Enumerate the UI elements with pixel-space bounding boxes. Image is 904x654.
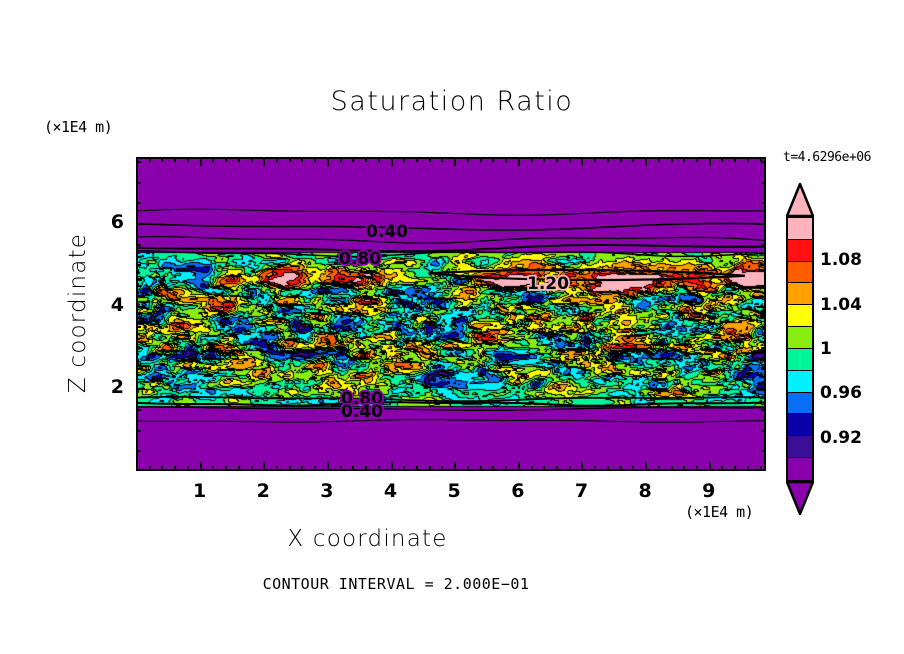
x-tick-top (441, 157, 443, 162)
x-tick-bottom (531, 466, 533, 471)
x-tick-top (187, 157, 189, 162)
x-tick-top (263, 157, 265, 166)
x-tick-label-7: 7 (566, 480, 596, 502)
x-tick-bottom (314, 466, 316, 471)
x-tick-top (365, 157, 367, 162)
x-tick-top (492, 157, 494, 162)
contour-line-upper-a (138, 209, 764, 215)
colorbar-label-1-04: 1.04 (820, 295, 862, 315)
y-tick-right (761, 409, 766, 411)
x-tick-bottom (454, 462, 456, 471)
x-tick-top (174, 157, 176, 162)
contour-plot-area: 0.400.801.200.800.40 (136, 157, 766, 471)
x-tick-bottom (403, 466, 405, 471)
x-tick-bottom (161, 466, 163, 471)
colorbar-label-0-96: 0.96 (820, 383, 862, 403)
x-tick-bottom (378, 466, 380, 471)
y-tick-right (757, 388, 766, 390)
y-tick-label-4: 4 (100, 294, 124, 316)
x-tick-bottom (658, 466, 660, 471)
colorbar-band-0 (788, 218, 812, 240)
x-tick-top (327, 157, 329, 166)
units-label-bottom: (×1E4 m) (685, 503, 753, 521)
x-tick-top (518, 157, 520, 166)
colorbar-band-8 (788, 393, 812, 415)
contour-line-lower-a (138, 407, 764, 410)
contour-label-0: 0.40 (366, 222, 408, 242)
y-tick-left (136, 264, 141, 266)
x-tick-top (161, 157, 163, 162)
colorbar-label-1-08: 1.08 (820, 250, 862, 270)
x-tick-top (480, 157, 482, 162)
x-tick-bottom (200, 462, 202, 471)
x-tick-top (340, 157, 342, 162)
colorbar-under-arrow (786, 481, 814, 515)
x-tick-label-5: 5 (439, 480, 469, 502)
y-tick-left (136, 388, 145, 390)
colorbar-band-2 (788, 262, 812, 284)
x-tick-top (721, 157, 723, 162)
x-tick-label-3: 3 (312, 480, 342, 502)
colorbar-band-6 (788, 349, 812, 371)
y-tick-right (761, 244, 766, 246)
y-tick-right (761, 182, 766, 184)
contour-line-upper-c (138, 251, 764, 257)
x-tick-top (620, 157, 622, 162)
colorbar-band-11 (788, 458, 812, 480)
x-tick-bottom (696, 466, 698, 471)
x-tick-top (251, 157, 253, 162)
x-tick-top (645, 157, 647, 166)
page-title: Saturation Ratio (0, 86, 904, 117)
x-tick-top (238, 157, 240, 162)
x-tick-bottom (581, 462, 583, 471)
x-tick-bottom (187, 466, 189, 471)
x-tick-bottom (416, 466, 418, 471)
x-tick-bottom (365, 466, 367, 471)
x-tick-bottom (238, 466, 240, 471)
x-tick-top (556, 157, 558, 162)
colorbar-band-7 (788, 371, 812, 393)
x-tick-bottom (429, 466, 431, 471)
x-tick-label-1: 1 (185, 480, 215, 502)
x-tick-bottom (518, 462, 520, 471)
x-tick-top (212, 157, 214, 162)
contour-line-0-40-lower (138, 402, 764, 406)
x-tick-top (531, 157, 533, 162)
y-tick-right (757, 223, 766, 225)
x-axis-title: X coordinate (0, 526, 735, 552)
x-tick-bottom (556, 466, 558, 471)
x-tick-bottom (467, 466, 469, 471)
contour-line-overlay: 0.400.801.200.800.40 (138, 159, 764, 469)
x-tick-label-6: 6 (503, 480, 533, 502)
x-tick-bottom (760, 466, 762, 471)
timestamp-label: t=4.6296e+06 (783, 150, 871, 165)
x-tick-bottom (340, 466, 342, 471)
x-tick-bottom (620, 466, 622, 471)
x-tick-top (301, 157, 303, 162)
x-tick-bottom (327, 462, 329, 471)
x-tick-top (543, 157, 545, 162)
y-tick-left (136, 202, 141, 204)
colorbar-band-4 (788, 305, 812, 327)
colorbar-over-arrow (786, 183, 814, 217)
x-tick-bottom (607, 466, 609, 471)
x-tick-label-8: 8 (630, 480, 660, 502)
x-tick-bottom (263, 462, 265, 471)
x-tick-top (149, 157, 151, 162)
contour-line-0-80-upper (138, 245, 764, 251)
y-tick-right (761, 202, 766, 204)
colorbar-band-9 (788, 414, 812, 436)
x-tick-top (378, 157, 380, 162)
x-tick-top (289, 157, 291, 162)
contour-line-lower-b (138, 420, 764, 423)
y-tick-right (761, 368, 766, 370)
x-tick-top (581, 157, 583, 166)
y-tick-left (136, 161, 141, 163)
x-tick-bottom (149, 466, 151, 471)
x-tick-bottom (301, 466, 303, 471)
x-tick-bottom (734, 466, 736, 471)
colorbar-band-10 (788, 436, 812, 458)
y-tick-right (761, 264, 766, 266)
y-tick-right (761, 161, 766, 163)
x-tick-top (454, 157, 456, 166)
y-tick-left (136, 306, 145, 308)
x-tick-top (709, 157, 711, 166)
y-tick-right (761, 285, 766, 287)
y-tick-left (136, 244, 141, 246)
y-tick-left (136, 223, 145, 225)
x-tick-top (225, 157, 227, 162)
x-tick-bottom (594, 466, 596, 471)
x-tick-bottom (352, 466, 354, 471)
x-tick-bottom (441, 466, 443, 471)
x-tick-top (683, 157, 685, 162)
x-tick-top (314, 157, 316, 162)
x-tick-bottom (645, 462, 647, 471)
contour-line-0-80-lower (138, 397, 764, 401)
y-tick-right (761, 347, 766, 349)
x-tick-top (429, 157, 431, 162)
x-tick-bottom (683, 466, 685, 471)
y-tick-left (136, 409, 141, 411)
x-tick-bottom (671, 466, 673, 471)
contour-label-4: 0.40 (341, 402, 383, 422)
colorbar (786, 216, 814, 482)
y-tick-label-6: 6 (100, 211, 124, 233)
y-tick-right (761, 430, 766, 432)
x-tick-bottom (480, 466, 482, 471)
y-tick-right (761, 326, 766, 328)
x-tick-top (632, 157, 634, 162)
x-tick-top (607, 157, 609, 162)
x-tick-bottom (632, 466, 634, 471)
x-tick-bottom (747, 466, 749, 471)
x-tick-label-4: 4 (376, 480, 406, 502)
x-tick-top (200, 157, 202, 166)
colorbar-label-0-92: 0.92 (820, 428, 862, 448)
y-tick-left (136, 326, 141, 328)
x-tick-bottom (391, 462, 393, 471)
x-tick-top (658, 157, 660, 162)
contour-label-2: 1.20 (527, 274, 569, 294)
colorbar-band-3 (788, 283, 812, 305)
x-tick-bottom (225, 466, 227, 471)
x-tick-top (352, 157, 354, 162)
x-tick-bottom (212, 466, 214, 471)
x-tick-bottom (174, 466, 176, 471)
x-tick-top (403, 157, 405, 162)
colorbar-band-1 (788, 240, 812, 262)
y-axis-title: Z coordinate (65, 193, 91, 433)
y-tick-right (757, 306, 766, 308)
y-tick-left (136, 347, 141, 349)
contour-line-upper-b (138, 237, 764, 244)
x-tick-top (467, 157, 469, 162)
x-tick-bottom (721, 466, 723, 471)
contour-label-1: 0.80 (339, 249, 381, 269)
x-tick-bottom (251, 466, 253, 471)
x-tick-top (416, 157, 418, 162)
y-tick-left (136, 368, 141, 370)
colorbar-label-1: 1 (820, 339, 832, 359)
units-label-top: (×1E4 m) (44, 118, 112, 136)
x-tick-bottom (289, 466, 291, 471)
x-tick-top (276, 157, 278, 162)
y-tick-right (761, 450, 766, 452)
x-tick-top (747, 157, 749, 162)
y-tick-left (136, 430, 141, 432)
y-tick-left (136, 182, 141, 184)
x-tick-label-2: 2 (248, 480, 278, 502)
y-tick-label-2: 2 (100, 376, 124, 398)
x-tick-top (569, 157, 571, 162)
x-tick-label-9: 9 (694, 480, 724, 502)
x-tick-bottom (709, 462, 711, 471)
x-tick-bottom (505, 466, 507, 471)
x-tick-bottom (569, 466, 571, 471)
contour-line-0-40-upper (138, 224, 764, 231)
x-tick-top (391, 157, 393, 166)
x-tick-bottom (492, 466, 494, 471)
x-tick-bottom (276, 466, 278, 471)
y-tick-left (136, 450, 141, 452)
y-tick-left (136, 285, 141, 287)
x-tick-top (594, 157, 596, 162)
contour-line-1-20 (429, 270, 745, 280)
colorbar-band-5 (788, 327, 812, 349)
x-tick-bottom (543, 466, 545, 471)
x-tick-top (696, 157, 698, 162)
contour-interval-label: CONTOUR INTERVAL = 2.000E−01 (0, 575, 792, 593)
x-tick-top (505, 157, 507, 162)
x-tick-top (734, 157, 736, 162)
x-tick-top (671, 157, 673, 162)
